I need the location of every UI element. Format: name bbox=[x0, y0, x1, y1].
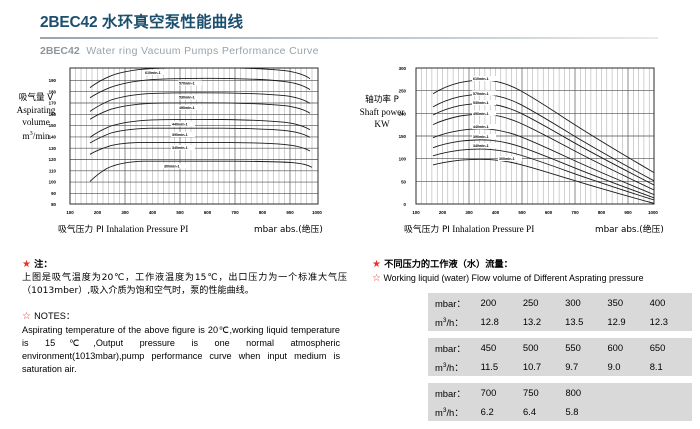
curve-440 bbox=[433, 129, 654, 195]
curve-label-440: 440min-1 bbox=[172, 123, 188, 127]
notes-en-heading: ☆ NOTES： bbox=[22, 308, 352, 322]
cell: 9.0 bbox=[607, 357, 649, 376]
curve-label-530: 530min-1 bbox=[473, 101, 489, 105]
curve-label-570: 570min-1 bbox=[473, 92, 489, 96]
curve-label-340: 340min-1 bbox=[172, 146, 188, 150]
cell: 12.8 bbox=[481, 312, 523, 331]
cell: 9.7 bbox=[565, 357, 607, 376]
cell: 10.7 bbox=[523, 357, 565, 376]
subtitle-en: Water ring Vacuum Pumps Performance Curv… bbox=[86, 45, 319, 57]
notes-en-body: Aspirating temperature of the above figu… bbox=[22, 324, 340, 377]
cell-empty bbox=[608, 402, 650, 421]
svg-text:120: 120 bbox=[49, 157, 57, 162]
title-model: 2BEC42 bbox=[40, 14, 97, 31]
cell: 13.5 bbox=[565, 312, 607, 331]
chart2-series bbox=[433, 80, 654, 203]
cell-empty bbox=[650, 402, 692, 421]
svg-text:110: 110 bbox=[49, 168, 57, 173]
table-spacer bbox=[372, 331, 692, 338]
svg-text:500: 500 bbox=[176, 210, 184, 215]
page-header: 2BEC42 水环真空泵性能曲线 2BEC42 Water ring Vacuu… bbox=[40, 10, 660, 57]
working-liquid-cn-heading: ★ 不同压力的工作液（水）流量： bbox=[372, 256, 692, 270]
chart-aspirating-volume: 吸气量 V Aspirating volume m3/min bbox=[32, 62, 332, 232]
curve-label-390: 390min-1 bbox=[172, 133, 188, 137]
chart2-y-ticks: 300 250 200 150 100 50 0 bbox=[399, 66, 407, 207]
datasheet-page: 2BEC42 水环真空泵性能曲线 2BEC42 Water ring Vacuu… bbox=[0, 0, 700, 429]
svg-text:900: 900 bbox=[624, 210, 632, 215]
curve-label-440: 440min-1 bbox=[473, 125, 489, 129]
svg-text:600: 600 bbox=[204, 210, 212, 215]
svg-text:50: 50 bbox=[401, 179, 406, 184]
notes-cn-heading: ★ 注： bbox=[22, 256, 352, 270]
cell: 550 bbox=[565, 338, 607, 357]
page-title: 2BEC42 水环真空泵性能曲线 bbox=[40, 10, 660, 32]
title-cn: 水环真空泵性能曲线 bbox=[102, 14, 243, 31]
svg-text:400: 400 bbox=[492, 210, 500, 215]
cell: 650 bbox=[650, 338, 692, 357]
table-row-pressure: mbar： 200 250 300 350 400 bbox=[428, 293, 692, 312]
working-liquid-en-heading: ☆ Working liquid (water) Flow volume of … bbox=[372, 273, 692, 284]
curve-label-390: 390min-1 bbox=[473, 135, 489, 139]
chart2-x-ticks: 100 200 300 400 500 600 700 800 900 1000 bbox=[412, 210, 658, 215]
subtitle-model: 2BEC42 bbox=[40, 45, 80, 57]
star-outline-icon: ☆ bbox=[372, 273, 381, 284]
cell: 12.9 bbox=[607, 312, 649, 331]
svg-text:250: 250 bbox=[399, 89, 407, 94]
cell-empty bbox=[608, 383, 650, 402]
chart1-x-ticks: 100 200 300 400 500 600 700 800 900 1000 bbox=[66, 210, 322, 215]
cell: 600 bbox=[607, 338, 649, 357]
svg-text:100: 100 bbox=[412, 210, 420, 215]
svg-text:130: 130 bbox=[49, 146, 57, 151]
chart2-x-axis-caption: 吸气压力 PI Inhalation Pressure PI bbox=[404, 222, 534, 235]
chart2-x-axis-unit: mbar abs.(绝压) bbox=[595, 222, 664, 235]
svg-text:500: 500 bbox=[518, 210, 526, 215]
page-subtitle: 2BEC42 Water ring Vacuum Pumps Performan… bbox=[40, 45, 660, 57]
curve-label-610: 610min-1 bbox=[145, 71, 161, 75]
svg-text:100: 100 bbox=[66, 210, 74, 215]
svg-text:0: 0 bbox=[404, 202, 407, 207]
star-outline-icon: ☆ bbox=[22, 311, 31, 322]
chart-shaft-power: 轴功率 P Shaft power KW bbox=[368, 62, 668, 232]
svg-text:100: 100 bbox=[399, 157, 407, 162]
working-liquid-section: ★ 不同压力的工作液（水）流量： ☆ Working liquid (water… bbox=[372, 256, 692, 421]
svg-text:700: 700 bbox=[231, 210, 239, 215]
table-spacer bbox=[372, 376, 692, 383]
svg-text:90: 90 bbox=[51, 191, 56, 196]
star-filled-icon: ★ bbox=[372, 259, 381, 270]
curve-label-530: 530min-1 bbox=[179, 96, 195, 100]
svg-text:1000: 1000 bbox=[648, 210, 658, 215]
svg-text:300: 300 bbox=[465, 210, 473, 215]
row-label-flow: m3/h： bbox=[428, 312, 481, 331]
table-row-flow: m3/h： 6.2 6.4 5.8 bbox=[428, 402, 692, 421]
chart1-y-unit: m3/min bbox=[6, 128, 66, 142]
cell: 500 bbox=[523, 338, 565, 357]
notes-cn-body: 上图是吸气温度为20℃，工作液温度为15℃，出口压力为一个标准大气压（1013m… bbox=[22, 272, 347, 299]
cell: 300 bbox=[565, 293, 607, 312]
chart2-y-axis-label: 轴功率 P Shaft power KW bbox=[346, 94, 418, 130]
curve-label-340: 340min-1 bbox=[473, 144, 489, 148]
svg-text:400: 400 bbox=[149, 210, 157, 215]
notes-spacer bbox=[22, 299, 352, 308]
table-row-flow: m3/h： 12.8 13.2 13.5 12.9 12.3 bbox=[428, 312, 692, 331]
cell: 12.3 bbox=[650, 312, 692, 331]
svg-text:900: 900 bbox=[286, 210, 294, 215]
row-label-pressure: mbar： bbox=[428, 383, 481, 402]
cell: 13.2 bbox=[523, 312, 565, 331]
chart1-y-axis-label: 吸气量 V Aspirating volume m3/min bbox=[6, 92, 66, 142]
row-label-pressure: mbar： bbox=[428, 293, 481, 312]
cell: 8.1 bbox=[650, 357, 692, 376]
star-filled-icon: ★ bbox=[22, 259, 31, 270]
svg-text:190: 190 bbox=[49, 78, 57, 83]
curve-390 bbox=[90, 128, 310, 143]
chart1-x-axis-caption: 吸气压力 PI Inhalation Pressure PI bbox=[58, 222, 188, 235]
cell: 700 bbox=[481, 383, 523, 402]
cell: 6.2 bbox=[481, 402, 523, 421]
svg-text:200: 200 bbox=[94, 210, 102, 215]
svg-text:100: 100 bbox=[49, 180, 57, 185]
chart2-plot: 610min-1 570min-1 530min-1 490min-1 440m… bbox=[368, 62, 668, 232]
curve-label-610: 610min-1 bbox=[473, 77, 489, 81]
row-label-flow: m3/h： bbox=[428, 402, 481, 421]
svg-text:300: 300 bbox=[121, 210, 129, 215]
chart1-plot: 610min-1 570min-1 530min-1 490min-1 440m… bbox=[32, 62, 332, 232]
svg-text:600: 600 bbox=[545, 210, 553, 215]
svg-text:1000: 1000 bbox=[312, 210, 322, 215]
cell: 400 bbox=[650, 293, 692, 312]
flow-table-2: mbar： 450 500 550 600 650 m3/h： 11.5 10.… bbox=[428, 338, 692, 376]
cell: 450 bbox=[481, 338, 523, 357]
curve-530 bbox=[433, 104, 654, 185]
table-row-flow: m3/h： 11.5 10.7 9.7 9.0 8.1 bbox=[428, 357, 692, 376]
svg-text:150: 150 bbox=[399, 134, 407, 139]
cell: 250 bbox=[523, 293, 565, 312]
svg-text:700: 700 bbox=[571, 210, 579, 215]
curve-label-490: 490min-1 bbox=[179, 106, 195, 110]
header-divider bbox=[40, 37, 658, 39]
table-row-pressure: mbar： 450 500 550 600 650 bbox=[428, 338, 692, 357]
notes-section: ★ 注： 上图是吸气温度为20℃，工作液温度为15℃，出口压力为一个标准大气压（… bbox=[22, 256, 352, 377]
curve-label-490: 490min-1 bbox=[473, 112, 489, 116]
table-row-pressure: mbar： 700 750 800 bbox=[428, 383, 692, 402]
svg-text:800: 800 bbox=[259, 210, 267, 215]
row-label-flow: m3/h： bbox=[428, 357, 481, 376]
cell: 5.8 bbox=[565, 402, 607, 421]
curve-300 bbox=[90, 161, 312, 181]
curve-label-570: 570min-1 bbox=[179, 82, 195, 86]
cell: 6.4 bbox=[523, 402, 565, 421]
flow-table-3: mbar： 700 750 800 m3/h： 6.2 6.4 5.8 bbox=[428, 383, 692, 421]
curve-label-300: 300min-1 bbox=[164, 165, 180, 169]
chart1-x-axis-unit: mbar abs.(绝压) bbox=[254, 222, 323, 235]
chart2-major-gridlines bbox=[416, 68, 654, 204]
cell: 750 bbox=[523, 383, 565, 402]
curve-label-300: 300min-1 bbox=[499, 157, 515, 161]
cell-empty bbox=[650, 383, 692, 402]
cell: 11.5 bbox=[481, 357, 523, 376]
svg-text:300: 300 bbox=[399, 66, 407, 71]
cell: 350 bbox=[607, 293, 649, 312]
cell: 800 bbox=[565, 383, 607, 402]
svg-text:800: 800 bbox=[598, 210, 606, 215]
flow-table-1: mbar： 200 250 300 350 400 m3/h： 12.8 13.… bbox=[428, 293, 692, 331]
row-label-pressure: mbar： bbox=[428, 338, 481, 357]
svg-text:80: 80 bbox=[51, 202, 56, 207]
cell: 200 bbox=[481, 293, 523, 312]
svg-text:200: 200 bbox=[439, 210, 447, 215]
